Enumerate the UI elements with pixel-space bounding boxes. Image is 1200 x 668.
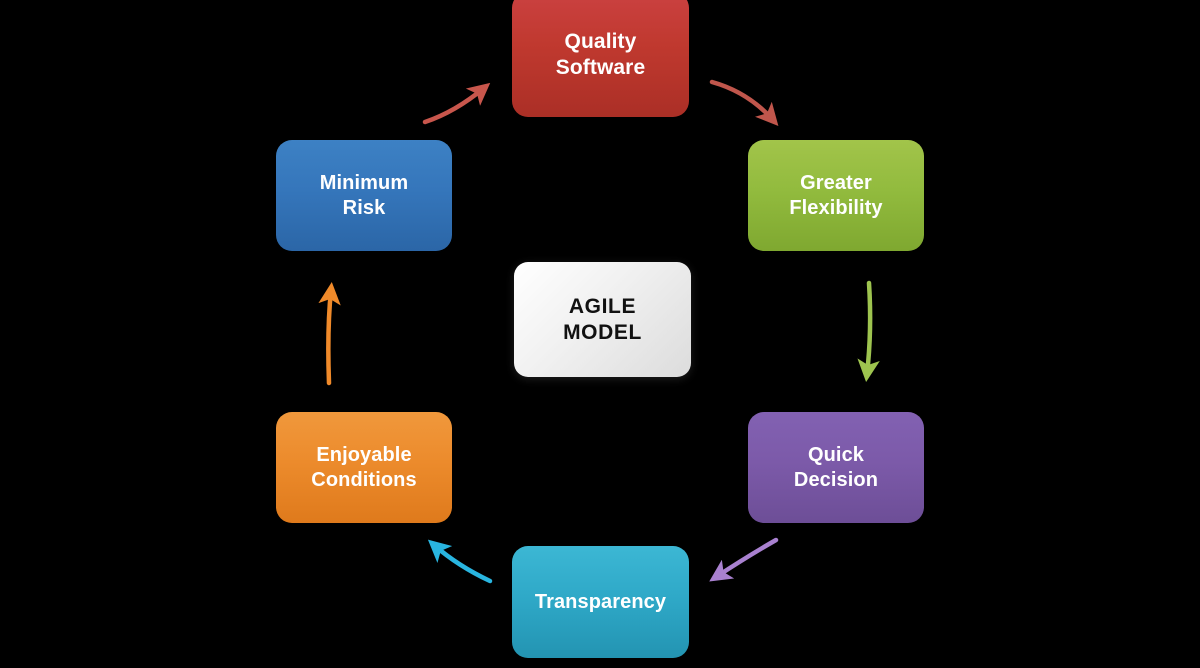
node-enjoyable-conditions-label: Enjoyable Conditions <box>276 443 452 492</box>
node-minimum-risk[interactable]: Minimum Risk <box>276 140 452 251</box>
node-transparency-label: Transparency <box>512 590 689 614</box>
node-transparency[interactable]: Transparency <box>512 546 689 658</box>
node-agile-model-center[interactable]: AGILE MODEL <box>514 262 691 377</box>
arrow-quick-decision-to-transparency <box>716 540 776 577</box>
node-greater-flexibility-label: Greater Flexibility <box>748 171 924 220</box>
node-quality-software[interactable]: Quality Software <box>512 0 689 117</box>
node-quality-software-label: Quality Software <box>512 29 689 80</box>
node-agile-model-label: AGILE MODEL <box>514 294 691 345</box>
node-enjoyable-conditions[interactable]: Enjoyable Conditions <box>276 412 452 523</box>
node-greater-flexibility[interactable]: Greater Flexibility <box>748 140 924 251</box>
node-minimum-risk-label: Minimum Risk <box>276 171 452 220</box>
agile-model-diagram: Quality Software Greater Flexibility Qui… <box>0 0 1200 668</box>
node-quick-decision[interactable]: Quick Decision <box>748 412 924 523</box>
arrow-enjoyable-to-minimum-risk <box>328 290 331 383</box>
arrow-flexibility-to-quick-decision <box>867 283 870 374</box>
node-quick-decision-label: Quick Decision <box>748 443 924 492</box>
arrow-transparency-to-enjoyable <box>434 545 490 581</box>
arrow-minimum-risk-to-quality <box>425 88 484 122</box>
arrow-quality-to-flexibility <box>712 82 773 120</box>
